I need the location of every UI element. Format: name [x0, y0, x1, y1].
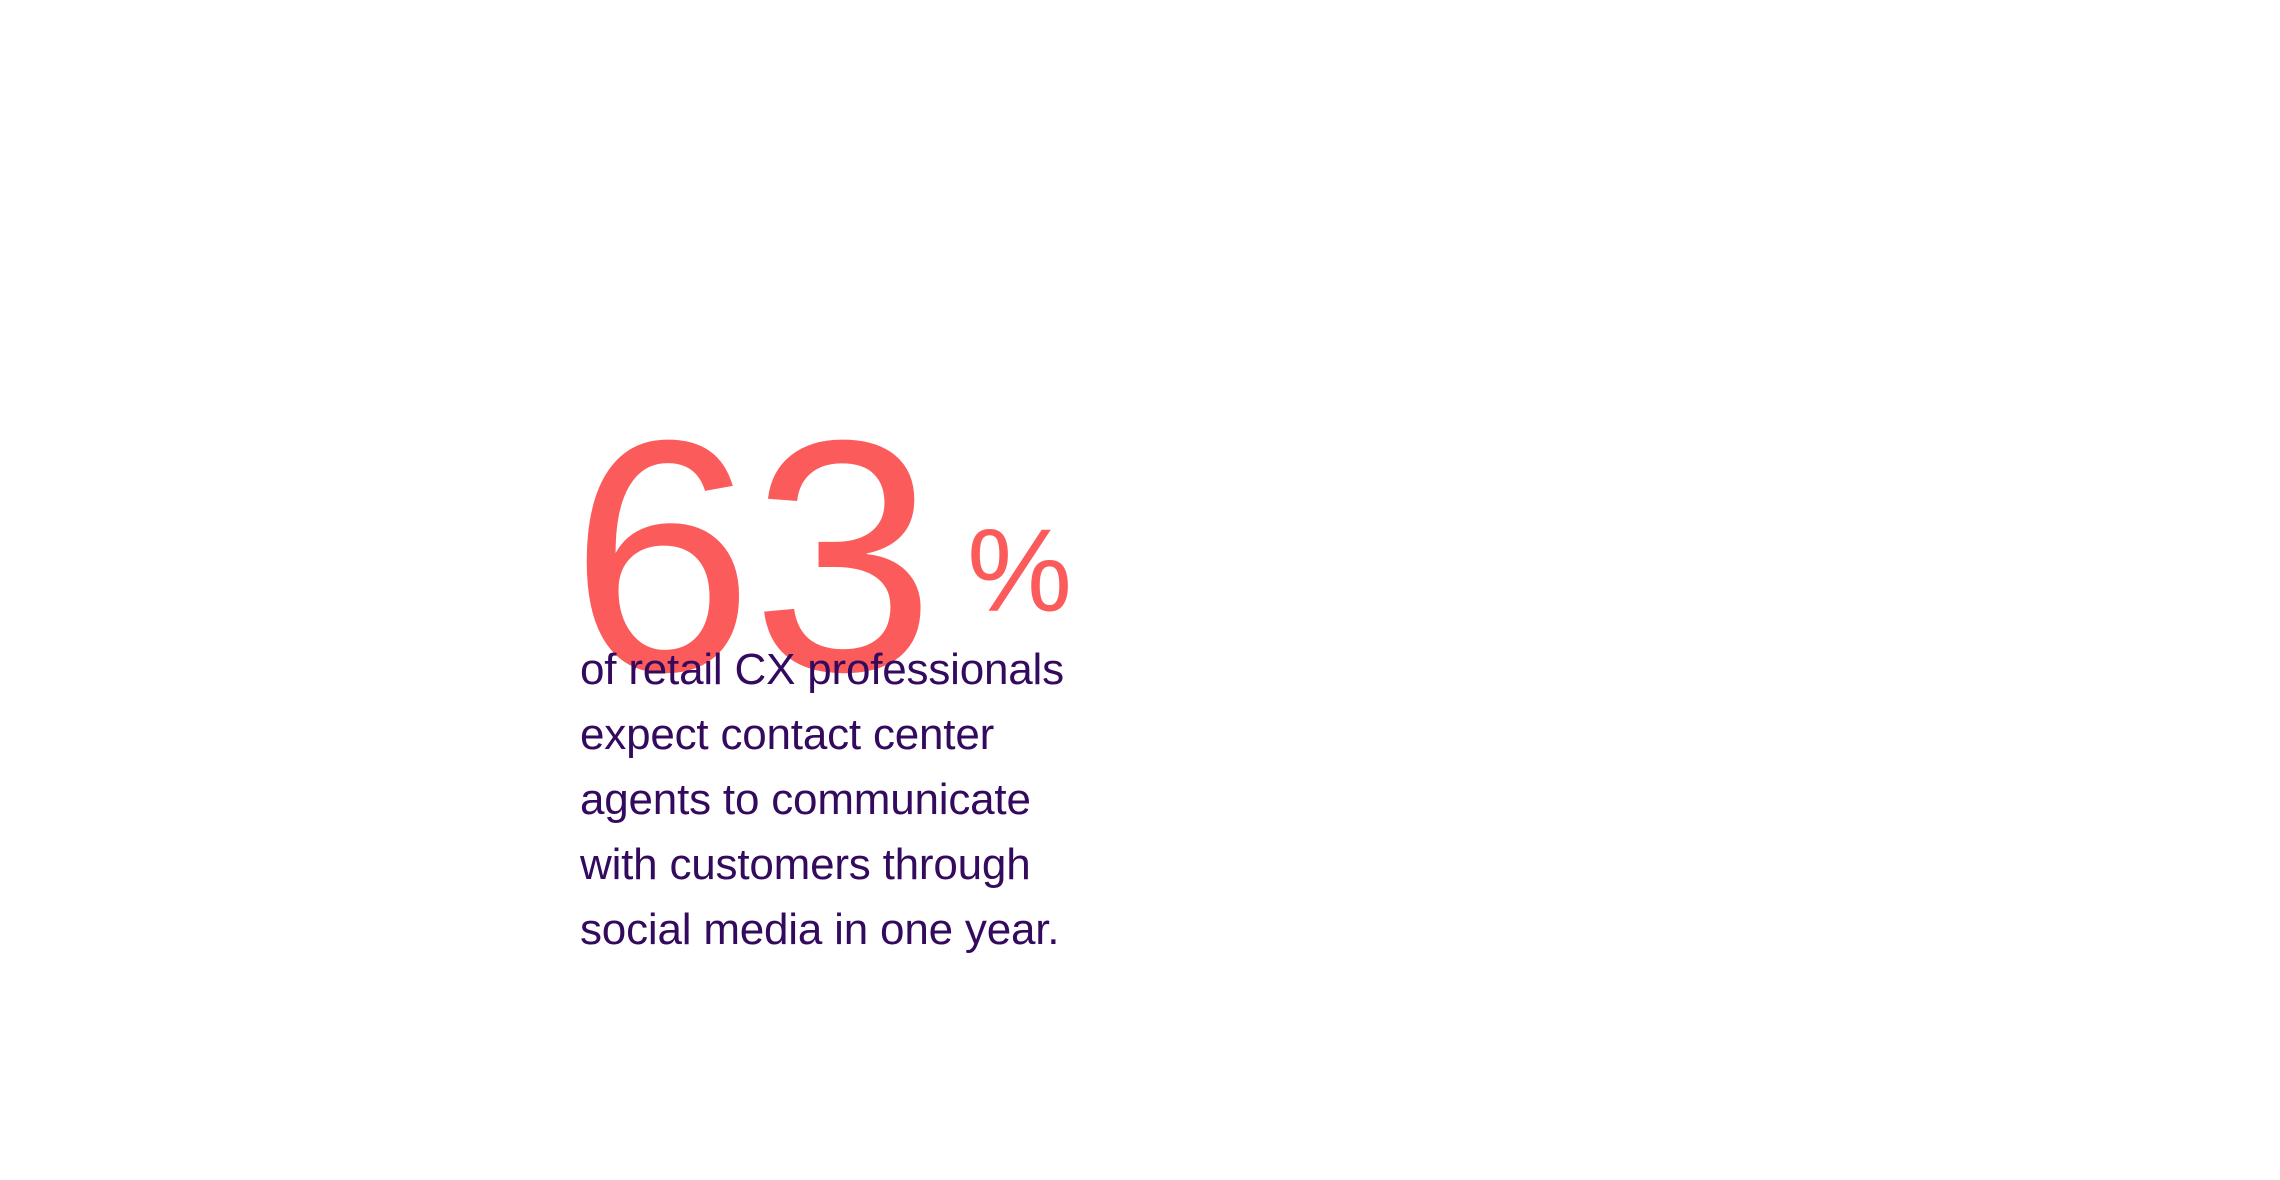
statistic-block: 63 %	[574, 330, 1474, 630]
statistic-callout-canvas: 63 % of retail CX professionals expect c…	[0, 0, 2280, 1180]
caption-line: social media in one year.	[580, 897, 1200, 962]
caption-line: with customers through	[580, 832, 1200, 897]
statistic-figure: 63 %	[574, 330, 1474, 630]
percent-symbol: %	[967, 512, 1072, 630]
caption-line: expect contact center	[580, 702, 1200, 767]
caption-line: agents to communicate	[580, 767, 1200, 832]
statistic-caption: of retail CX professionals expect contac…	[580, 637, 1200, 962]
caption-line: of retail CX professionals	[580, 637, 1200, 702]
